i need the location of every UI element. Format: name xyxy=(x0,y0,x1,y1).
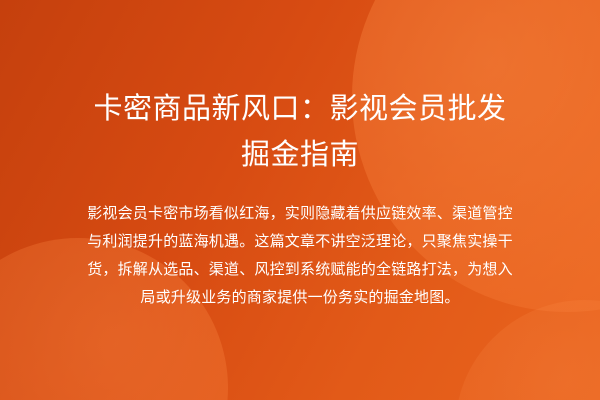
banner-title: 卡密商品新风口：影视会员批发 掘金指南 xyxy=(30,86,570,178)
description-line-4: 局或升级业务的商家提供一份务实的掘金地图。 xyxy=(42,284,558,312)
description-line-1: 影视会员卡密市场看似红海，实则隐藏着供应链效率、渠道管控 xyxy=(42,200,558,228)
title-line-1: 卡密商品新风口：影视会员批发 xyxy=(30,86,570,132)
banner-description: 影视会员卡密市场看似红海，实则隐藏着供应链效率、渠道管控 与利润提升的蓝海机遇。… xyxy=(42,200,558,312)
description-line-3: 货，拆解从选品、渠道、风控到系统赋能的全链路打法，为想入 xyxy=(42,256,558,284)
banner-content: 卡密商品新风口：影视会员批发 掘金指南 影视会员卡密市场看似红海，实则隐藏着供应… xyxy=(0,0,600,400)
title-line-2: 掘金指南 xyxy=(30,132,570,178)
article-cover-banner: 卡密商品新风口：影视会员批发 掘金指南 影视会员卡密市场看似红海，实则隐藏着供应… xyxy=(0,0,600,400)
description-line-2: 与利润提升的蓝海机遇。这篇文章不讲空泛理论，只聚焦实操干 xyxy=(42,228,558,256)
